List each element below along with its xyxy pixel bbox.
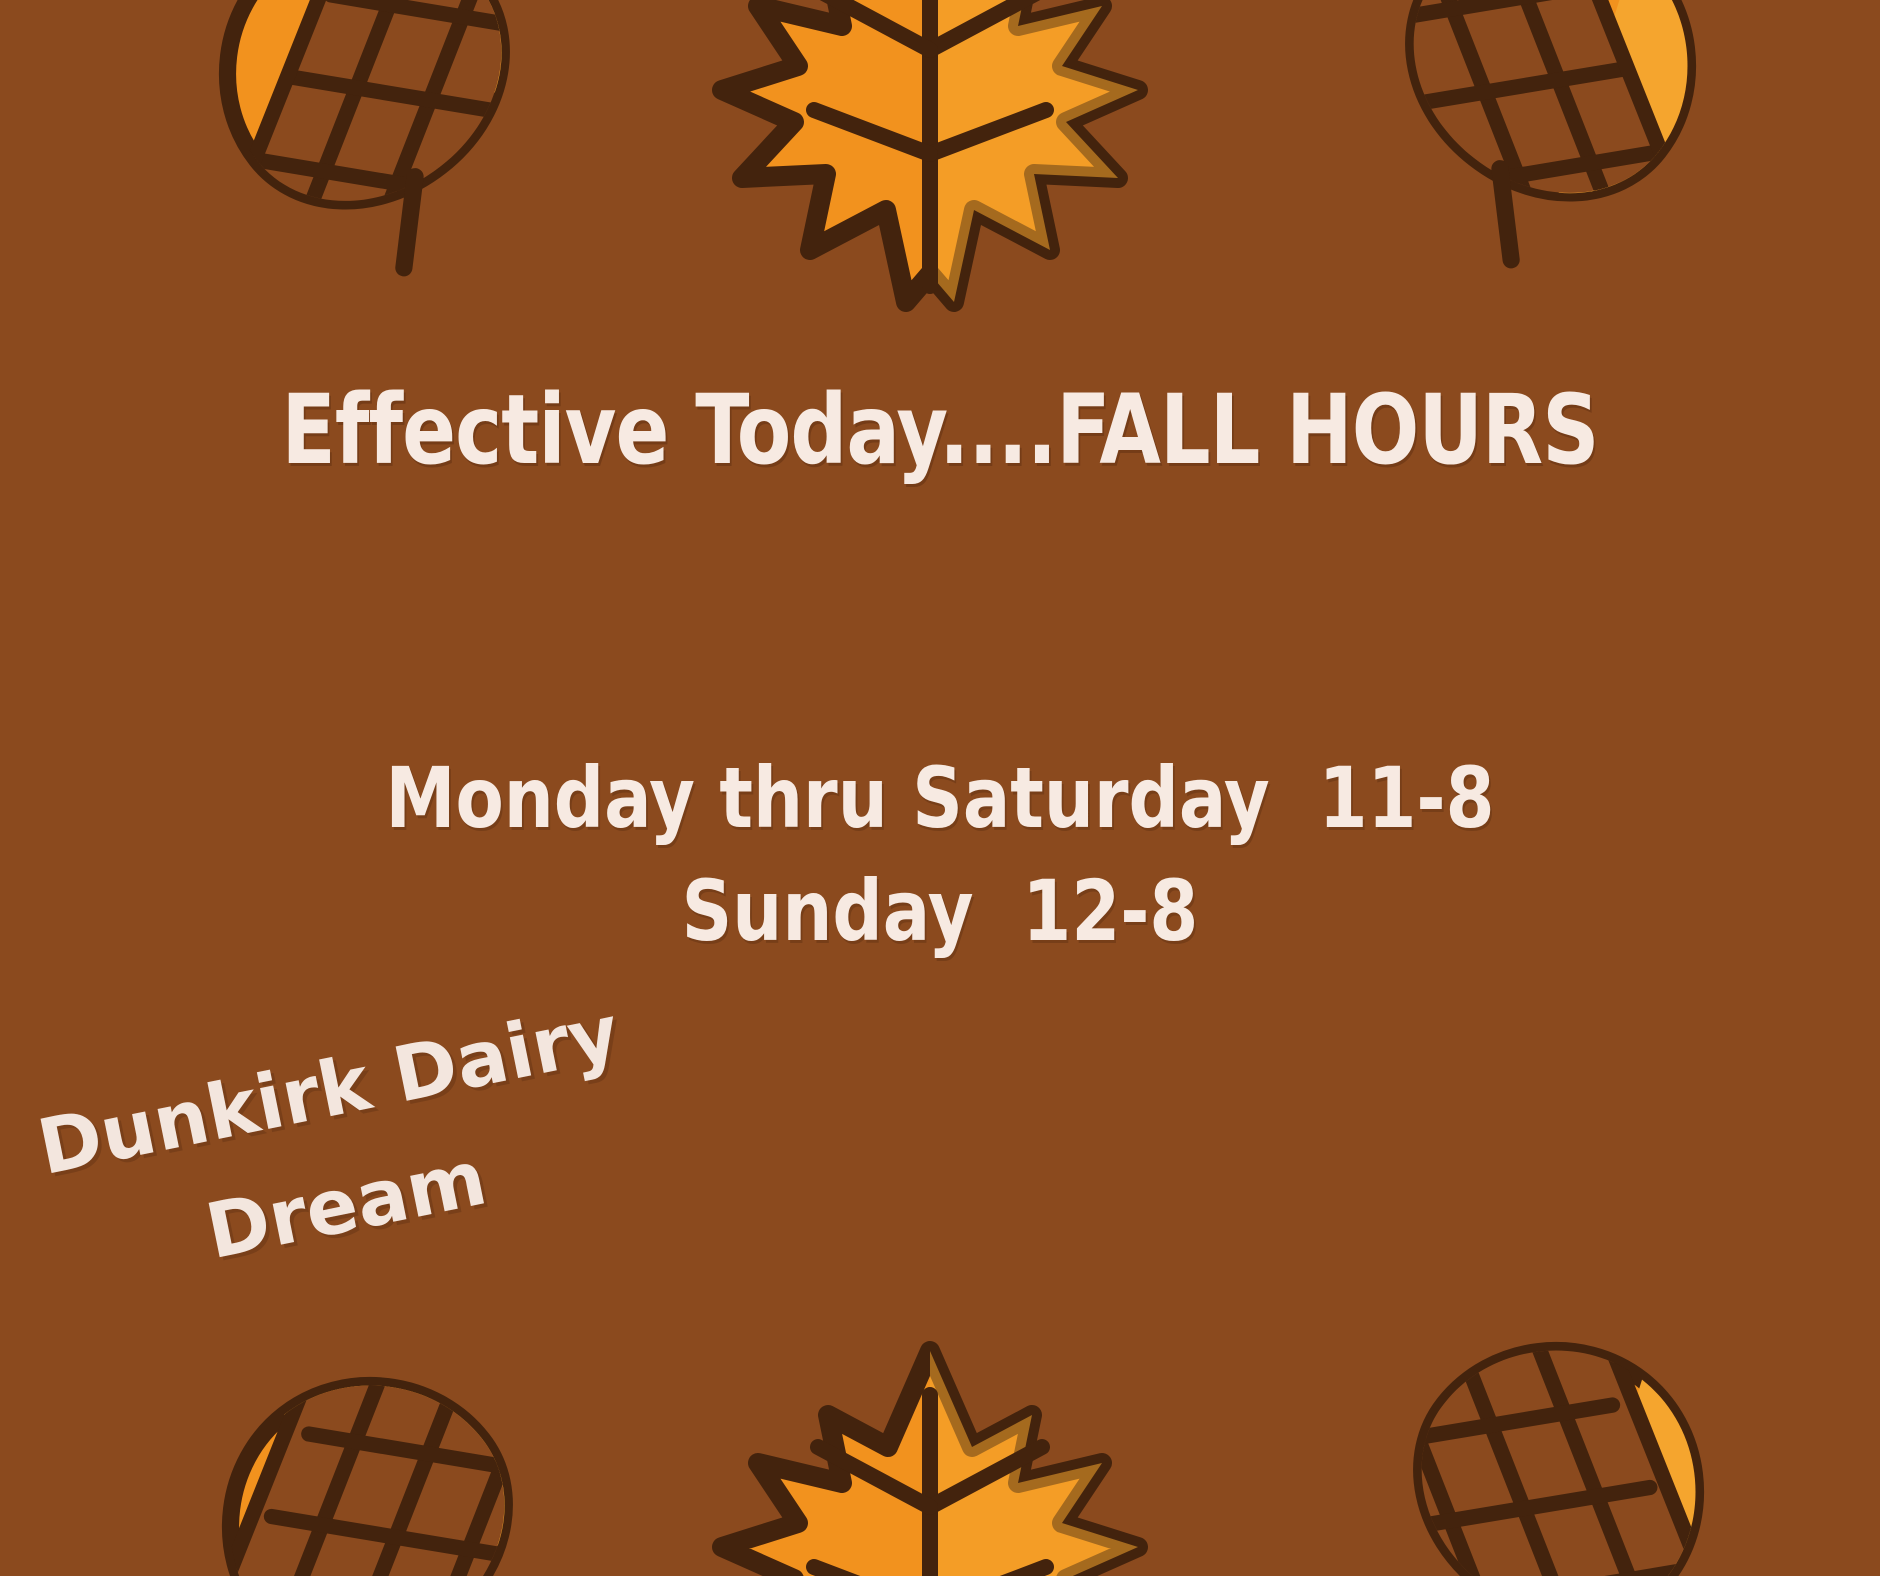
hours-weekday-line: Monday thru Saturday 11-8 — [66, 742, 1814, 855]
page-title: Effective Today....FALL HOURS — [75, 382, 1805, 478]
hours-block: Monday thru Saturday 11-8 Sunday 12-8 — [66, 742, 1814, 967]
fall-hours-poster: Effective Today....FALL HOURS Monday thr… — [0, 0, 1880, 1576]
brand-name: Dunkirk Dairy Dream — [28, 968, 682, 1318]
hours-weekend-line: Sunday 12-8 — [66, 855, 1814, 968]
poster-text-layer: Effective Today....FALL HOURS Monday thr… — [0, 0, 1880, 1576]
